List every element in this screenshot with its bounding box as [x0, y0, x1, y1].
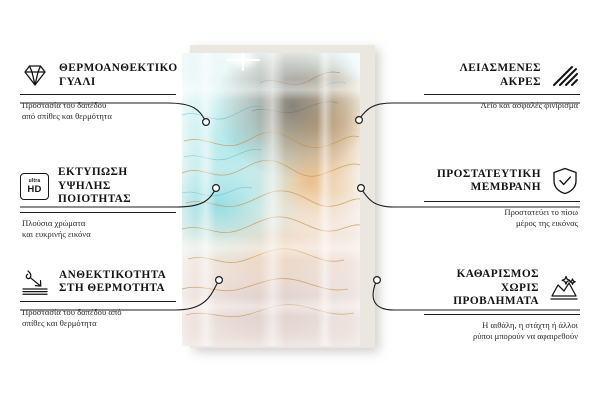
- polished-edges-icon: [550, 62, 580, 89]
- sparkle-clean-icon: [548, 274, 580, 302]
- feature-easy-cleaning: ΚΑΘΑΡΙΣΜΟΣ ΧΩΡΙΣ ΠΡΟΒΛΗΜΑΤΑ Η αιθάλη, η …: [424, 268, 580, 342]
- feature-body: Η αιθάλη, η στάχτη ή άλλοιρύποι μπορούν …: [424, 320, 580, 342]
- feature-polished-edges: ΛΕΙΑΣΜΕΝΕΣ ΑΚΡΕΣ Λείο και ασφαλές φινίρι…: [424, 62, 580, 111]
- divider: [20, 212, 176, 213]
- divider: [20, 301, 176, 302]
- feature-title: ΛΕΙΑΣΜΕΝΕΣ ΑΚΡΕΣ: [424, 62, 541, 89]
- ultra-hd-badge-top: ultra: [29, 179, 41, 184]
- ultra-hd-icon: ultra HD: [20, 173, 49, 200]
- ink-vein-overlay: [182, 53, 360, 346]
- heat-resistance-icon: [20, 268, 50, 296]
- feature-high-quality-print: ultra HD ΕΚΤΥΠΩΣΗ ΥΨΗΛΗΣ ΠΟΙΟΤΗΤΑΣ Πλούσ…: [20, 166, 176, 240]
- feature-title: ΚΑΘΑΡΙΣΜΟΣ ΧΩΡΙΣ ΠΡΟΒΛΗΜΑΤΑ: [424, 268, 539, 309]
- feature-protective-membrane: ΠΡΟΣΤΑΤΕΥΤΙΚΗ ΜΕΜΒΡΑΝΗ Προστατεύει το πί…: [424, 166, 580, 229]
- divider: [424, 94, 580, 95]
- feature-heat-resistant-glass: ΘΕΡΜΟΑΝΘΕΚΤΙΚΟ ΓΥΑΛΙ Προστασία του δαπέδ…: [20, 62, 176, 122]
- feature-title: ΘΕΡΜΟΑΝΘΕΚΤΙΚΟ ΓΥΑΛΙ: [59, 62, 178, 89]
- product-image: [178, 45, 383, 355]
- feature-body: Λείο και ασφαλές φινίρισμα: [424, 100, 580, 111]
- feature-title: ΠΡΟΣΤΑΤΕΥΤΙΚΗ ΜΕΜΒΡΑΝΗ: [424, 168, 541, 195]
- feature-body: Πλούσια χρώματακαι ευκρινής εικόνα: [20, 218, 176, 240]
- shield-check-icon: [550, 166, 580, 196]
- divider: [424, 314, 580, 315]
- divider: [20, 94, 176, 95]
- feature-body: Προστασία του δαπέδουαπό σπίθες και θερμ…: [20, 100, 176, 122]
- ultra-hd-badge-bottom: HD: [27, 185, 41, 195]
- feature-heat-durability: ΑΝΘΕΚΤΙΚΟΤΗΤΑ ΣΤΗ ΘΕΡΜΟΤΗΤΑ Προστασία το…: [20, 268, 176, 329]
- feature-body: Προστασία του δαπέδου απόσπίθες και θερμ…: [20, 307, 176, 329]
- divider: [424, 201, 580, 202]
- infographic-root: ΘΕΡΜΟΑΝΘΕΚΤΙΚΟ ΓΥΑΛΙ Προστασία του δαπέδ…: [0, 0, 600, 400]
- diamond-icon: [20, 62, 50, 89]
- feature-title: ΕΚΤΥΠΩΣΗ ΥΨΗΛΗΣ ΠΟΙΟΤΗΤΑΣ: [58, 166, 176, 207]
- feature-body: Προστατεύει το πίσωμέρος της εικόνας: [424, 207, 580, 229]
- glass-artwork: [182, 53, 360, 346]
- feature-title: ΑΝΘΕΚΤΙΚΟΤΗΤΑ ΣΤΗ ΘΕΡΜΟΤΗΤΑ: [59, 269, 176, 296]
